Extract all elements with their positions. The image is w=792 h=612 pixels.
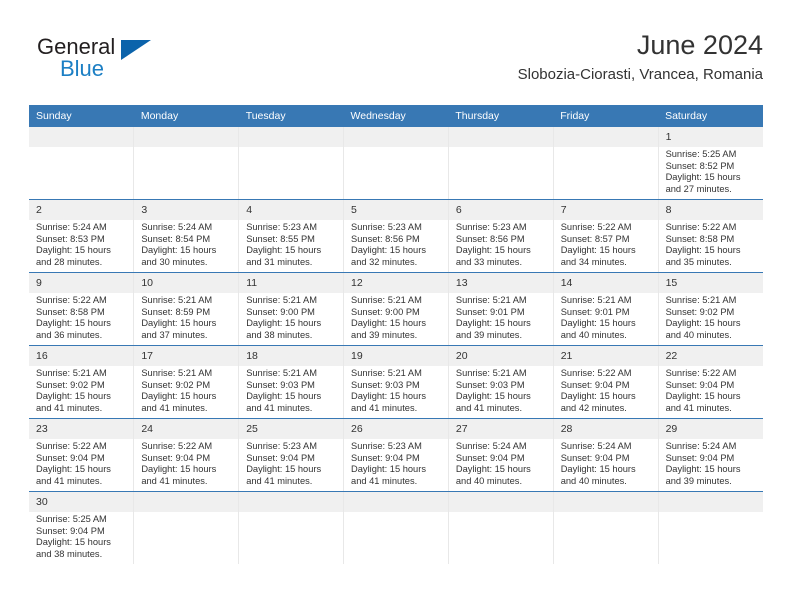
day-details: Sunrise: 5:22 AMSunset: 8:58 PMDaylight:… xyxy=(659,220,763,268)
sunrise-text: Sunrise: 5:21 AM xyxy=(351,295,443,307)
sunset-text: Sunset: 9:04 PM xyxy=(456,453,548,465)
sunset-text: Sunset: 8:56 PM xyxy=(351,234,443,246)
weekday-header-wednesday: Wednesday xyxy=(344,105,449,127)
calendar-day-cell[interactable]: 22Sunrise: 5:22 AMSunset: 9:04 PMDayligh… xyxy=(658,346,763,419)
day-number: 1 xyxy=(659,127,763,147)
sunrise-text: Sunrise: 5:25 AM xyxy=(666,149,758,161)
day-number: 8 xyxy=(659,200,763,220)
calendar-day-cell[interactable]: 10Sunrise: 5:21 AMSunset: 8:59 PMDayligh… xyxy=(134,273,239,346)
sunset-text: Sunset: 8:54 PM xyxy=(141,234,233,246)
sunset-text: Sunset: 8:53 PM xyxy=(36,234,128,246)
day-details: Sunrise: 5:21 AMSunset: 9:00 PMDaylight:… xyxy=(344,293,448,341)
weekday-header-tuesday: Tuesday xyxy=(239,105,344,127)
sunset-text: Sunset: 8:55 PM xyxy=(246,234,338,246)
calendar-day-cell-empty xyxy=(134,127,239,200)
sunset-text: Sunset: 8:58 PM xyxy=(666,234,758,246)
calendar-day-cell-empty xyxy=(344,127,449,200)
daylight-2-text: and 35 minutes. xyxy=(666,257,758,269)
day-number xyxy=(449,492,553,512)
day-details: Sunrise: 5:22 AMSunset: 9:04 PMDaylight:… xyxy=(29,439,133,487)
day-details: Sunrise: 5:22 AMSunset: 9:04 PMDaylight:… xyxy=(554,366,658,414)
daylight-1-text: Daylight: 15 hours xyxy=(561,245,653,257)
daylight-2-text: and 27 minutes. xyxy=(666,184,758,196)
daylight-2-text: and 41 minutes. xyxy=(36,403,128,415)
daylight-2-text: and 38 minutes. xyxy=(246,330,338,342)
day-number: 14 xyxy=(554,273,658,293)
day-details: Sunrise: 5:23 AMSunset: 8:55 PMDaylight:… xyxy=(239,220,343,268)
sunrise-text: Sunrise: 5:21 AM xyxy=(351,368,443,380)
day-details: Sunrise: 5:24 AMSunset: 8:54 PMDaylight:… xyxy=(134,220,238,268)
day-details: Sunrise: 5:23 AMSunset: 9:04 PMDaylight:… xyxy=(344,439,448,487)
sunset-text: Sunset: 9:03 PM xyxy=(456,380,548,392)
day-number: 12 xyxy=(344,273,448,293)
calendar-day-cell[interactable]: 11Sunrise: 5:21 AMSunset: 9:00 PMDayligh… xyxy=(239,273,344,346)
sunrise-text: Sunrise: 5:22 AM xyxy=(141,441,233,453)
calendar-header-row: Sunday Monday Tuesday Wednesday Thursday… xyxy=(29,105,763,127)
day-number: 30 xyxy=(29,492,133,512)
page-header: General Blue June 2024 Slobozia-Ciorasti… xyxy=(29,28,763,94)
daylight-1-text: Daylight: 15 hours xyxy=(666,172,758,184)
daylight-1-text: Daylight: 15 hours xyxy=(246,318,338,330)
calendar-day-cell-empty xyxy=(658,492,763,565)
calendar-page: General Blue June 2024 Slobozia-Ciorasti… xyxy=(0,0,792,612)
day-number xyxy=(134,492,238,512)
day-number xyxy=(134,127,238,147)
sunset-text: Sunset: 9:02 PM xyxy=(666,307,758,319)
calendar-day-cell[interactable]: 3Sunrise: 5:24 AMSunset: 8:54 PMDaylight… xyxy=(134,200,239,273)
daylight-2-text: and 41 minutes. xyxy=(141,476,233,488)
day-details: Sunrise: 5:21 AMSunset: 9:02 PMDaylight:… xyxy=(29,366,133,414)
day-number xyxy=(659,492,763,512)
daylight-1-text: Daylight: 15 hours xyxy=(351,245,443,257)
sunrise-text: Sunrise: 5:21 AM xyxy=(246,368,338,380)
daylight-2-text: and 41 minutes. xyxy=(246,476,338,488)
calendar-day-cell[interactable]: 28Sunrise: 5:24 AMSunset: 9:04 PMDayligh… xyxy=(553,419,658,492)
calendar-day-cell[interactable]: 30Sunrise: 5:25 AMSunset: 9:04 PMDayligh… xyxy=(29,492,134,565)
day-details: Sunrise: 5:23 AMSunset: 8:56 PMDaylight:… xyxy=(449,220,553,268)
calendar-day-cell[interactable]: 16Sunrise: 5:21 AMSunset: 9:02 PMDayligh… xyxy=(29,346,134,419)
day-details: Sunrise: 5:25 AMSunset: 9:04 PMDaylight:… xyxy=(29,512,133,560)
day-number: 24 xyxy=(134,419,238,439)
calendar-week-row: 30Sunrise: 5:25 AMSunset: 9:04 PMDayligh… xyxy=(29,492,763,565)
daylight-2-text: and 41 minutes. xyxy=(246,403,338,415)
sunrise-text: Sunrise: 5:23 AM xyxy=(246,222,338,234)
day-number: 7 xyxy=(554,200,658,220)
daylight-1-text: Daylight: 15 hours xyxy=(456,391,548,403)
calendar-week-row: 2Sunrise: 5:24 AMSunset: 8:53 PMDaylight… xyxy=(29,200,763,273)
sunset-text: Sunset: 8:52 PM xyxy=(666,161,758,173)
sunset-text: Sunset: 9:04 PM xyxy=(141,453,233,465)
day-number: 6 xyxy=(449,200,553,220)
calendar-day-cell[interactable]: 24Sunrise: 5:22 AMSunset: 9:04 PMDayligh… xyxy=(134,419,239,492)
daylight-2-text: and 40 minutes. xyxy=(561,330,653,342)
daylight-1-text: Daylight: 15 hours xyxy=(36,391,128,403)
calendar-day-cell[interactable]: 15Sunrise: 5:21 AMSunset: 9:02 PMDayligh… xyxy=(658,273,763,346)
daylight-1-text: Daylight: 15 hours xyxy=(246,391,338,403)
sunset-text: Sunset: 9:04 PM xyxy=(36,526,128,538)
calendar-week-row: 16Sunrise: 5:21 AMSunset: 9:02 PMDayligh… xyxy=(29,346,763,419)
sunset-text: Sunset: 8:56 PM xyxy=(456,234,548,246)
day-number xyxy=(239,492,343,512)
sunrise-text: Sunrise: 5:23 AM xyxy=(351,222,443,234)
calendar-day-cell[interactable]: 25Sunrise: 5:23 AMSunset: 9:04 PMDayligh… xyxy=(239,419,344,492)
daylight-1-text: Daylight: 15 hours xyxy=(561,318,653,330)
day-number xyxy=(554,127,658,147)
daylight-2-text: and 41 minutes. xyxy=(666,403,758,415)
sunrise-text: Sunrise: 5:21 AM xyxy=(141,368,233,380)
day-details: Sunrise: 5:24 AMSunset: 9:04 PMDaylight:… xyxy=(659,439,763,487)
calendar-day-cell-empty xyxy=(448,492,553,565)
sunset-text: Sunset: 8:58 PM xyxy=(36,307,128,319)
daylight-2-text: and 41 minutes. xyxy=(36,476,128,488)
daylight-1-text: Daylight: 15 hours xyxy=(36,318,128,330)
calendar-week-row: 23Sunrise: 5:22 AMSunset: 9:04 PMDayligh… xyxy=(29,419,763,492)
day-details: Sunrise: 5:23 AMSunset: 9:04 PMDaylight:… xyxy=(239,439,343,487)
daylight-1-text: Daylight: 15 hours xyxy=(141,245,233,257)
sunset-text: Sunset: 9:03 PM xyxy=(351,380,443,392)
calendar-day-cell[interactable]: 14Sunrise: 5:21 AMSunset: 9:01 PMDayligh… xyxy=(553,273,658,346)
calendar-day-cell[interactable]: 2Sunrise: 5:24 AMSunset: 8:53 PMDaylight… xyxy=(29,200,134,273)
sunrise-text: Sunrise: 5:22 AM xyxy=(666,222,758,234)
sunrise-text: Sunrise: 5:21 AM xyxy=(456,368,548,380)
daylight-2-text: and 40 minutes. xyxy=(666,330,758,342)
calendar-day-cell[interactable]: 1Sunrise: 5:25 AMSunset: 8:52 PMDaylight… xyxy=(658,127,763,200)
sunrise-text: Sunrise: 5:21 AM xyxy=(561,295,653,307)
sunrise-text: Sunrise: 5:24 AM xyxy=(666,441,758,453)
daylight-1-text: Daylight: 15 hours xyxy=(351,464,443,476)
daylight-1-text: Daylight: 15 hours xyxy=(561,464,653,476)
calendar-day-cell[interactable]: 5Sunrise: 5:23 AMSunset: 8:56 PMDaylight… xyxy=(344,200,449,273)
sunrise-text: Sunrise: 5:21 AM xyxy=(666,295,758,307)
sunrise-text: Sunrise: 5:22 AM xyxy=(561,368,653,380)
sunset-text: Sunset: 9:04 PM xyxy=(36,453,128,465)
day-number xyxy=(449,127,553,147)
day-number: 29 xyxy=(659,419,763,439)
sunset-text: Sunset: 8:57 PM xyxy=(561,234,653,246)
sunset-text: Sunset: 9:00 PM xyxy=(246,307,338,319)
calendar-day-cell[interactable]: 8Sunrise: 5:22 AMSunset: 8:58 PMDaylight… xyxy=(658,200,763,273)
sunrise-text: Sunrise: 5:22 AM xyxy=(36,295,128,307)
daylight-1-text: Daylight: 15 hours xyxy=(36,537,128,549)
sunset-text: Sunset: 9:04 PM xyxy=(666,380,758,392)
calendar-day-cell[interactable]: 27Sunrise: 5:24 AMSunset: 9:04 PMDayligh… xyxy=(448,419,553,492)
day-number xyxy=(554,492,658,512)
day-number: 28 xyxy=(554,419,658,439)
day-details: Sunrise: 5:22 AMSunset: 9:04 PMDaylight:… xyxy=(134,439,238,487)
daylight-2-text: and 33 minutes. xyxy=(456,257,548,269)
day-number: 19 xyxy=(344,346,448,366)
day-details: Sunrise: 5:21 AMSunset: 9:01 PMDaylight:… xyxy=(449,293,553,341)
daylight-2-text: and 41 minutes. xyxy=(141,403,233,415)
daylight-1-text: Daylight: 15 hours xyxy=(351,391,443,403)
calendar-day-cell[interactable]: 26Sunrise: 5:23 AMSunset: 9:04 PMDayligh… xyxy=(344,419,449,492)
weekday-header-monday: Monday xyxy=(134,105,239,127)
daylight-2-text: and 39 minutes. xyxy=(351,330,443,342)
calendar-day-cell-empty xyxy=(239,127,344,200)
day-details: Sunrise: 5:21 AMSunset: 9:03 PMDaylight:… xyxy=(344,366,448,414)
sunset-text: Sunset: 9:04 PM xyxy=(351,453,443,465)
daylight-2-text: and 40 minutes. xyxy=(561,476,653,488)
daylight-2-text: and 37 minutes. xyxy=(141,330,233,342)
day-number: 11 xyxy=(239,273,343,293)
calendar-day-cell-empty xyxy=(239,492,344,565)
calendar-day-cell[interactable]: 9Sunrise: 5:22 AMSunset: 8:58 PMDaylight… xyxy=(29,273,134,346)
day-number: 5 xyxy=(344,200,448,220)
calendar-body: 1Sunrise: 5:25 AMSunset: 8:52 PMDaylight… xyxy=(29,127,763,564)
calendar-day-cell[interactable]: 17Sunrise: 5:21 AMSunset: 9:02 PMDayligh… xyxy=(134,346,239,419)
daylight-1-text: Daylight: 15 hours xyxy=(666,318,758,330)
day-number: 20 xyxy=(449,346,553,366)
daylight-1-text: Daylight: 15 hours xyxy=(666,464,758,476)
calendar-day-cell-empty xyxy=(553,127,658,200)
sunset-text: Sunset: 9:04 PM xyxy=(666,453,758,465)
day-number: 16 xyxy=(29,346,133,366)
page-title: June 2024 xyxy=(518,28,763,62)
sunrise-text: Sunrise: 5:22 AM xyxy=(36,441,128,453)
day-number xyxy=(239,127,343,147)
day-details: Sunrise: 5:21 AMSunset: 8:59 PMDaylight:… xyxy=(134,293,238,341)
day-number: 3 xyxy=(134,200,238,220)
daylight-1-text: Daylight: 15 hours xyxy=(36,245,128,257)
sunrise-text: Sunrise: 5:21 AM xyxy=(456,295,548,307)
calendar-table: Sunday Monday Tuesday Wednesday Thursday… xyxy=(29,105,763,564)
brand-name-bottom: Blue xyxy=(60,56,104,82)
sunset-text: Sunset: 9:04 PM xyxy=(561,380,653,392)
daylight-2-text: and 41 minutes. xyxy=(456,403,548,415)
day-number: 10 xyxy=(134,273,238,293)
weekday-header-friday: Friday xyxy=(553,105,658,127)
calendar-week-row: 1Sunrise: 5:25 AMSunset: 8:52 PMDaylight… xyxy=(29,127,763,200)
day-number: 21 xyxy=(554,346,658,366)
sunset-text: Sunset: 9:01 PM xyxy=(456,307,548,319)
day-number: 4 xyxy=(239,200,343,220)
sunset-text: Sunset: 9:00 PM xyxy=(351,307,443,319)
daylight-2-text: and 39 minutes. xyxy=(456,330,548,342)
day-details: Sunrise: 5:24 AMSunset: 9:04 PMDaylight:… xyxy=(449,439,553,487)
sunset-text: Sunset: 9:02 PM xyxy=(141,380,233,392)
calendar-day-cell[interactable]: 19Sunrise: 5:21 AMSunset: 9:03 PMDayligh… xyxy=(344,346,449,419)
calendar-day-cell[interactable]: 12Sunrise: 5:21 AMSunset: 9:00 PMDayligh… xyxy=(344,273,449,346)
triangle-icon xyxy=(121,40,151,60)
day-number: 17 xyxy=(134,346,238,366)
day-number: 2 xyxy=(29,200,133,220)
sunset-text: Sunset: 9:04 PM xyxy=(246,453,338,465)
sunrise-text: Sunrise: 5:21 AM xyxy=(36,368,128,380)
daylight-2-text: and 28 minutes. xyxy=(36,257,128,269)
calendar-day-cell-empty xyxy=(448,127,553,200)
day-number xyxy=(29,127,133,147)
daylight-2-text: and 38 minutes. xyxy=(36,549,128,561)
page-subtitle: Slobozia-Ciorasti, Vrancea, Romania xyxy=(518,64,763,86)
calendar-day-cell[interactable]: 18Sunrise: 5:21 AMSunset: 9:03 PMDayligh… xyxy=(239,346,344,419)
daylight-2-text: and 41 minutes. xyxy=(351,403,443,415)
day-details: Sunrise: 5:21 AMSunset: 9:00 PMDaylight:… xyxy=(239,293,343,341)
calendar-day-cell[interactable]: 13Sunrise: 5:21 AMSunset: 9:01 PMDayligh… xyxy=(448,273,553,346)
sunrise-text: Sunrise: 5:21 AM xyxy=(246,295,338,307)
sunrise-text: Sunrise: 5:24 AM xyxy=(36,222,128,234)
sunset-text: Sunset: 8:59 PM xyxy=(141,307,233,319)
calendar-day-cell-empty xyxy=(29,127,134,200)
daylight-1-text: Daylight: 15 hours xyxy=(141,391,233,403)
day-number: 13 xyxy=(449,273,553,293)
day-details: Sunrise: 5:24 AMSunset: 9:04 PMDaylight:… xyxy=(554,439,658,487)
sunrise-text: Sunrise: 5:24 AM xyxy=(141,222,233,234)
calendar-day-cell-empty xyxy=(134,492,239,565)
day-number: 15 xyxy=(659,273,763,293)
day-number: 25 xyxy=(239,419,343,439)
weekday-header-saturday: Saturday xyxy=(658,105,763,127)
day-number: 26 xyxy=(344,419,448,439)
day-details: Sunrise: 5:22 AMSunset: 8:58 PMDaylight:… xyxy=(29,293,133,341)
daylight-1-text: Daylight: 15 hours xyxy=(456,464,548,476)
daylight-1-text: Daylight: 15 hours xyxy=(246,464,338,476)
day-details: Sunrise: 5:25 AMSunset: 8:52 PMDaylight:… xyxy=(659,147,763,195)
title-block: June 2024 Slobozia-Ciorasti, Vrancea, Ro… xyxy=(518,28,763,86)
daylight-1-text: Daylight: 15 hours xyxy=(246,245,338,257)
daylight-2-text: and 30 minutes. xyxy=(141,257,233,269)
daylight-1-text: Daylight: 15 hours xyxy=(561,391,653,403)
day-details: Sunrise: 5:22 AMSunset: 8:57 PMDaylight:… xyxy=(554,220,658,268)
sunrise-text: Sunrise: 5:24 AM xyxy=(456,441,548,453)
calendar-week-row: 9Sunrise: 5:22 AMSunset: 8:58 PMDaylight… xyxy=(29,273,763,346)
sunrise-text: Sunrise: 5:25 AM xyxy=(36,514,128,526)
day-details: Sunrise: 5:21 AMSunset: 9:03 PMDaylight:… xyxy=(239,366,343,414)
calendar-day-cell[interactable]: 29Sunrise: 5:24 AMSunset: 9:04 PMDayligh… xyxy=(658,419,763,492)
calendar-day-cell-empty xyxy=(344,492,449,565)
daylight-1-text: Daylight: 15 hours xyxy=(666,391,758,403)
daylight-1-text: Daylight: 15 hours xyxy=(351,318,443,330)
calendar-day-cell[interactable]: 6Sunrise: 5:23 AMSunset: 8:56 PMDaylight… xyxy=(448,200,553,273)
day-details: Sunrise: 5:21 AMSunset: 9:01 PMDaylight:… xyxy=(554,293,658,341)
sunrise-text: Sunrise: 5:24 AM xyxy=(561,441,653,453)
calendar-day-cell-empty xyxy=(553,492,658,565)
daylight-1-text: Daylight: 15 hours xyxy=(141,318,233,330)
daylight-1-text: Daylight: 15 hours xyxy=(456,318,548,330)
day-details: Sunrise: 5:22 AMSunset: 9:04 PMDaylight:… xyxy=(659,366,763,414)
daylight-1-text: Daylight: 15 hours xyxy=(456,245,548,257)
sunrise-text: Sunrise: 5:23 AM xyxy=(246,441,338,453)
daylight-2-text: and 42 minutes. xyxy=(561,403,653,415)
daylight-1-text: Daylight: 15 hours xyxy=(36,464,128,476)
day-number xyxy=(344,492,448,512)
sunset-text: Sunset: 9:02 PM xyxy=(36,380,128,392)
sunrise-text: Sunrise: 5:23 AM xyxy=(456,222,548,234)
day-number: 18 xyxy=(239,346,343,366)
daylight-1-text: Daylight: 15 hours xyxy=(141,464,233,476)
daylight-1-text: Daylight: 15 hours xyxy=(666,245,758,257)
weekday-header-sunday: Sunday xyxy=(29,105,134,127)
sunrise-text: Sunrise: 5:21 AM xyxy=(141,295,233,307)
day-number: 27 xyxy=(449,419,553,439)
calendar-day-cell[interactable]: 4Sunrise: 5:23 AMSunset: 8:55 PMDaylight… xyxy=(239,200,344,273)
sunrise-text: Sunrise: 5:23 AM xyxy=(351,441,443,453)
day-details: Sunrise: 5:23 AMSunset: 8:56 PMDaylight:… xyxy=(344,220,448,268)
calendar-day-cell[interactable]: 21Sunrise: 5:22 AMSunset: 9:04 PMDayligh… xyxy=(553,346,658,419)
sunset-text: Sunset: 9:01 PM xyxy=(561,307,653,319)
brand-logo[interactable]: General Blue xyxy=(29,34,229,90)
day-details: Sunrise: 5:24 AMSunset: 8:53 PMDaylight:… xyxy=(29,220,133,268)
daylight-2-text: and 39 minutes. xyxy=(666,476,758,488)
sunrise-text: Sunrise: 5:22 AM xyxy=(666,368,758,380)
calendar-day-cell[interactable]: 20Sunrise: 5:21 AMSunset: 9:03 PMDayligh… xyxy=(448,346,553,419)
day-details: Sunrise: 5:21 AMSunset: 9:02 PMDaylight:… xyxy=(134,366,238,414)
sunset-text: Sunset: 9:04 PM xyxy=(561,453,653,465)
day-details: Sunrise: 5:21 AMSunset: 9:03 PMDaylight:… xyxy=(449,366,553,414)
calendar-day-cell[interactable]: 23Sunrise: 5:22 AMSunset: 9:04 PMDayligh… xyxy=(29,419,134,492)
calendar-day-cell[interactable]: 7Sunrise: 5:22 AMSunset: 8:57 PMDaylight… xyxy=(553,200,658,273)
day-number: 23 xyxy=(29,419,133,439)
sunrise-text: Sunrise: 5:22 AM xyxy=(561,222,653,234)
daylight-2-text: and 36 minutes. xyxy=(36,330,128,342)
daylight-2-text: and 40 minutes. xyxy=(456,476,548,488)
sunset-text: Sunset: 9:03 PM xyxy=(246,380,338,392)
day-details: Sunrise: 5:21 AMSunset: 9:02 PMDaylight:… xyxy=(659,293,763,341)
daylight-2-text: and 31 minutes. xyxy=(246,257,338,269)
daylight-2-text: and 41 minutes. xyxy=(351,476,443,488)
day-number xyxy=(344,127,448,147)
daylight-2-text: and 32 minutes. xyxy=(351,257,443,269)
weekday-header-thursday: Thursday xyxy=(448,105,553,127)
day-number: 9 xyxy=(29,273,133,293)
daylight-2-text: and 34 minutes. xyxy=(561,257,653,269)
day-number: 22 xyxy=(659,346,763,366)
